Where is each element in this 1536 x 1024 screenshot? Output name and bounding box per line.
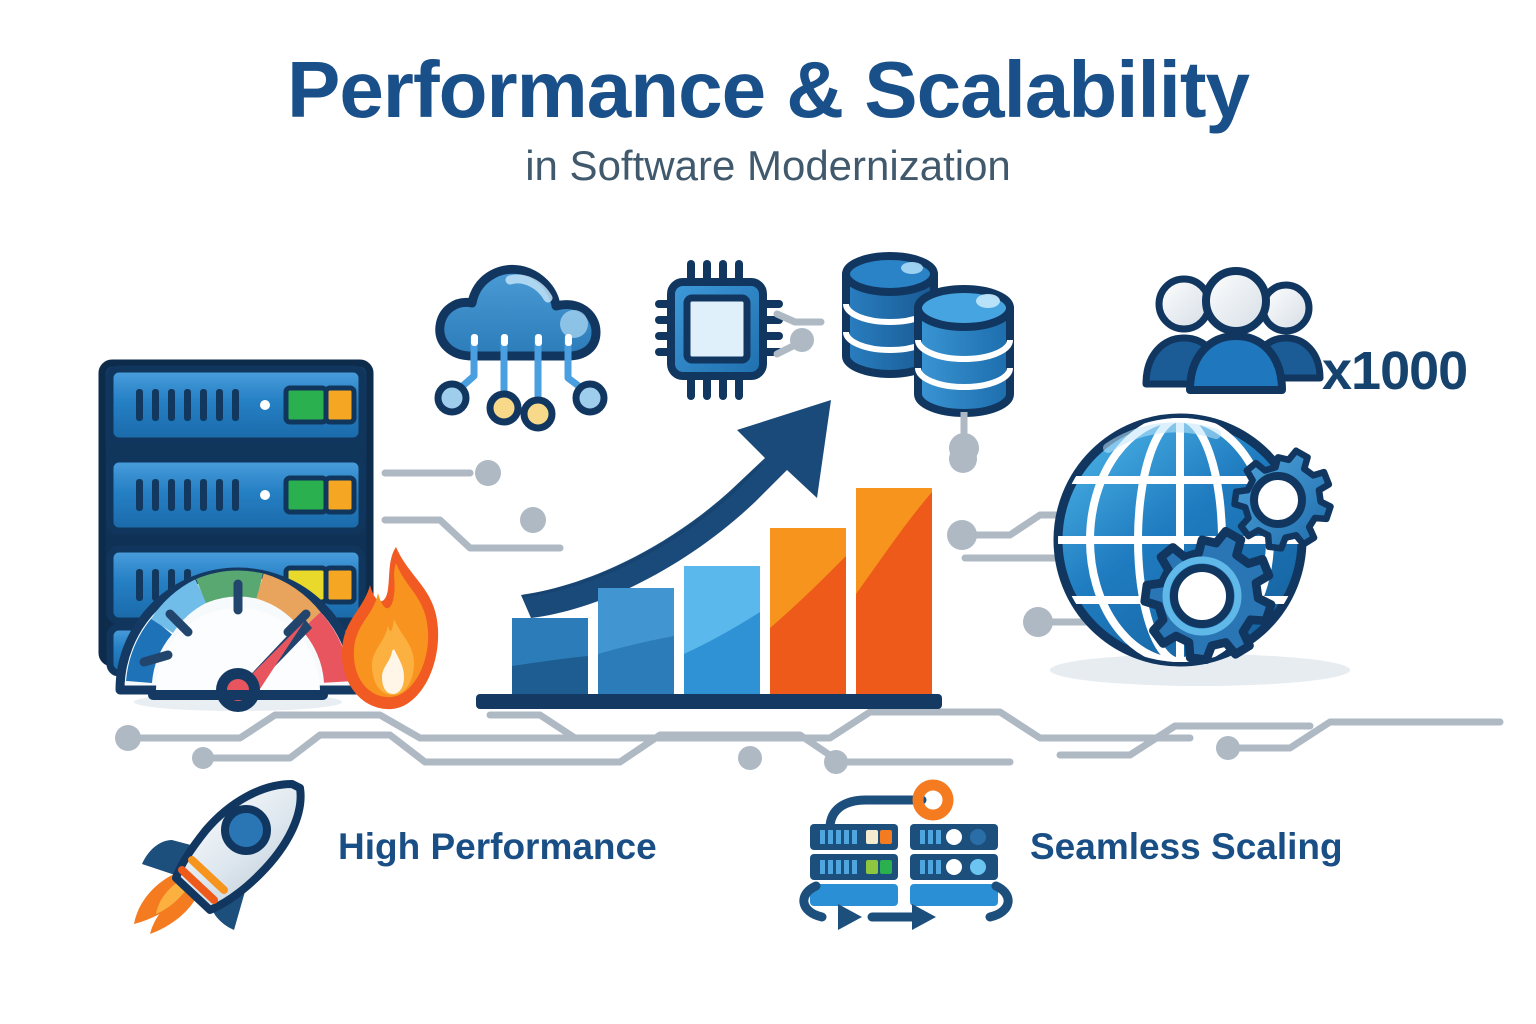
scaling-servers-icon [800, 786, 1015, 926]
bar-2 [598, 588, 674, 696]
bar-1 [512, 618, 588, 696]
bar-5 [856, 488, 932, 696]
cpu-chip-icon [655, 258, 830, 403]
flame-icon [330, 545, 460, 715]
growth-bar-chart-icon [470, 470, 950, 715]
user-multiplier-label: x1000 [1322, 340, 1467, 402]
rocket-icon [132, 778, 322, 938]
seamless-scaling-label: Seamless Scaling [1030, 826, 1343, 868]
high-performance-label: High Performance [338, 826, 657, 868]
infographic-canvas: Performance & Scalability in Software Mo… [0, 0, 1536, 1024]
globe-gears-icon [1030, 412, 1390, 692]
speedometer-gauge-icon [108, 522, 368, 712]
chart-baseline [476, 694, 942, 709]
gear-small-icon [1235, 451, 1331, 549]
bar-3 [684, 566, 760, 696]
users-group-icon [1140, 268, 1330, 393]
scale-node-icon [918, 785, 948, 815]
server-right [910, 824, 998, 906]
server-left [810, 824, 898, 906]
bar-4 [770, 528, 846, 696]
